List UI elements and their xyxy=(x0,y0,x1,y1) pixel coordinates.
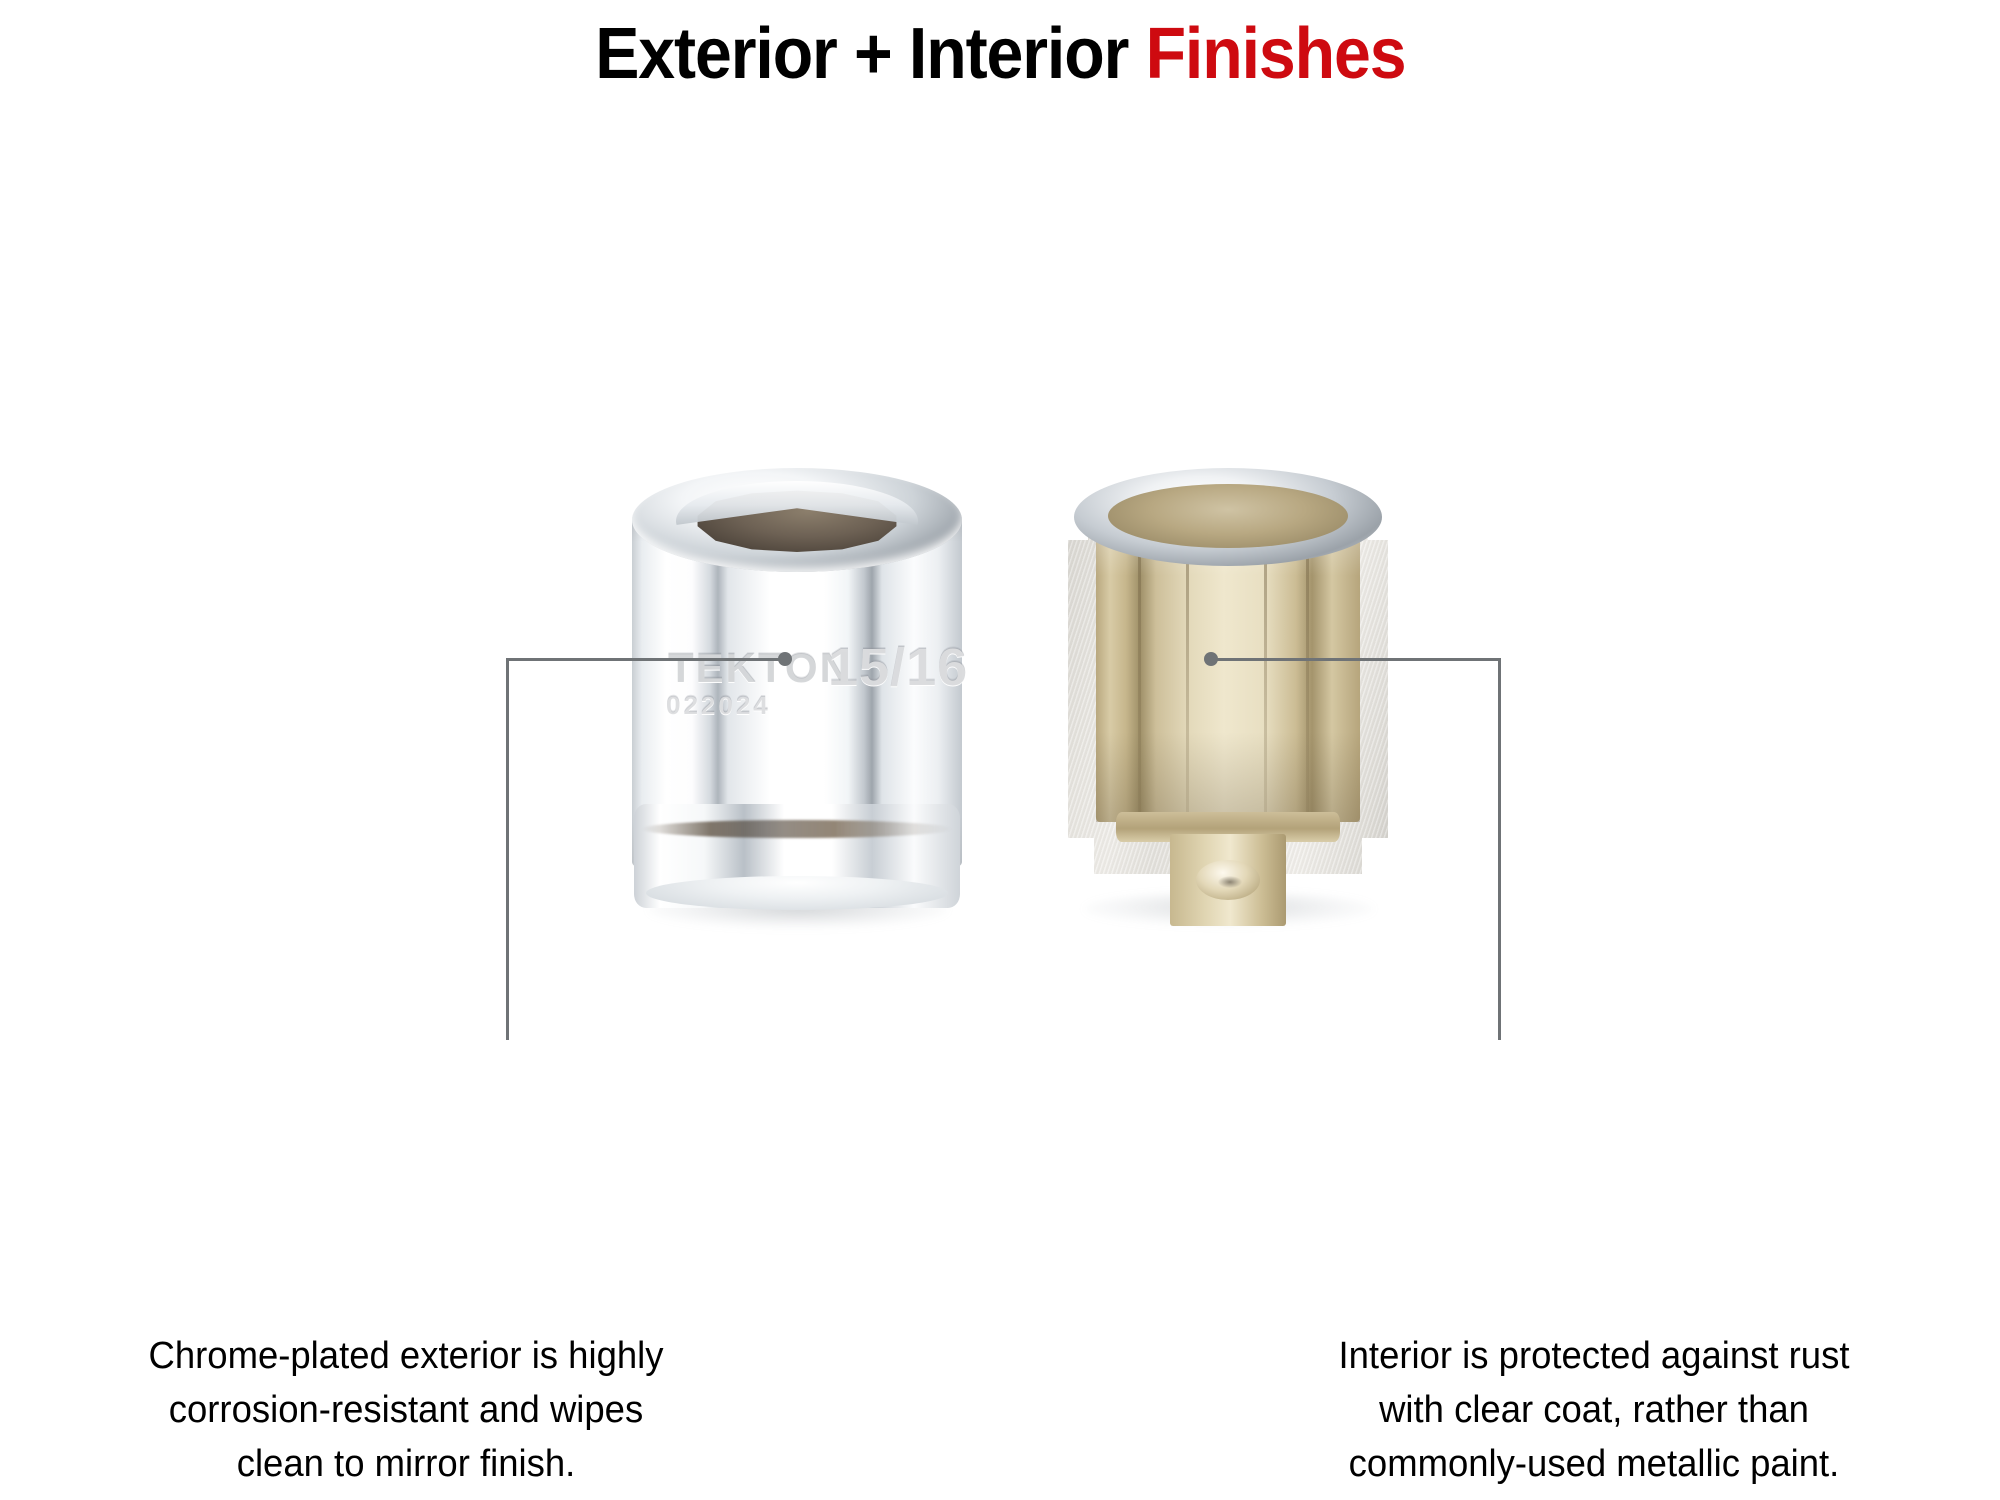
interior-callout-line: Interior is protected against rust xyxy=(1229,1330,1959,1384)
exterior-callout-line: Chrome-plated exterior is highly xyxy=(41,1330,771,1384)
cutaway-socket-interior-cavity xyxy=(1096,522,1360,822)
cutaway-notch-bottom-left xyxy=(1068,838,1094,874)
exterior-callout-leader-vertical xyxy=(506,658,509,1040)
interior-callout-leader-horizontal xyxy=(1212,658,1501,661)
exterior-callout-line: corrosion-resistant and wipes xyxy=(41,1384,771,1438)
socket-size-engraving: 15/16 xyxy=(828,636,968,698)
interior-callout-leader-vertical xyxy=(1498,658,1501,1040)
chrome-socket-base-bottom xyxy=(646,876,948,910)
interior-callout-text: Interior is protected against rust with … xyxy=(1229,1330,1959,1492)
exterior-callout-text: Chrome-plated exterior is highly corrosi… xyxy=(41,1330,771,1492)
socket-part-code-engraving: 022024 xyxy=(666,690,771,721)
socket-brand-engraving: TEKTON xyxy=(668,644,852,692)
cutaway-flute-seam xyxy=(1264,522,1267,822)
cutaway-socket-image xyxy=(1068,468,1388,908)
interior-callout-line: commonly-used metallic paint. xyxy=(1229,1438,1959,1492)
cutaway-notch-bottom-right xyxy=(1362,838,1388,874)
cutaway-flute-seam xyxy=(1138,522,1141,822)
exterior-callout-line: clean to mirror finish. xyxy=(41,1438,771,1492)
chrome-socket-base-groove xyxy=(642,820,952,838)
interior-callout-line: with clear coat, rather than xyxy=(1229,1384,1959,1438)
chrome-socket-image: TEKTON 022024 15/16 xyxy=(632,468,962,908)
cutaway-detent-ball xyxy=(1196,860,1260,900)
cutaway-flute-seam xyxy=(1306,522,1309,822)
product-illustration-stage: TEKTON 022024 15/16 xyxy=(0,0,2000,1500)
exterior-callout-leader-horizontal xyxy=(506,658,784,661)
cutaway-flute-seam xyxy=(1186,522,1189,822)
cutaway-socket-rim-opening xyxy=(1108,484,1348,548)
